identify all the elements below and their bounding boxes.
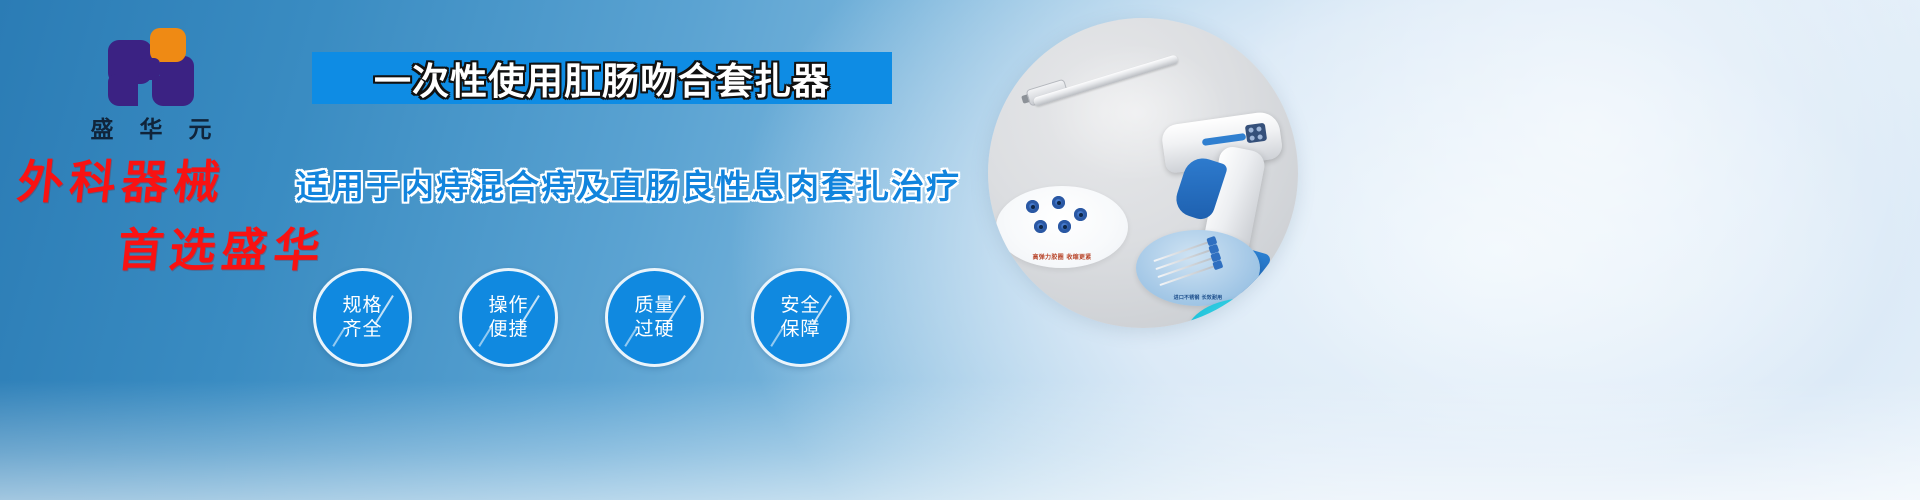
product-title-bar: 一次性使用肛肠吻合套扎器 [312, 52, 892, 104]
teal-device-body [1203, 317, 1293, 328]
feature-label-line1: 规格 [342, 294, 382, 317]
feature-circle-operation[interactable]: 操作 便捷 [459, 268, 558, 367]
product-title: 一次性使用肛肠吻合套扎器 [374, 51, 830, 105]
logo-shape-accent [150, 28, 186, 62]
feature-label-line1: 质量 [634, 294, 674, 317]
feature-circle-list: 规格 齐全 操作 便捷 质量 过硬 安全 保障 [313, 268, 850, 367]
bottom-fade [0, 380, 1920, 500]
rubber-ring-icon [1052, 196, 1065, 209]
promo-banner: 盛 华 元 外科器械 首选盛华 一次性使用肛肠吻合套扎器 适用于内痔混合痔及直肠… [0, 0, 1920, 500]
brand-name: 盛 华 元 [66, 110, 236, 144]
slogan-line-1: 外科器械 [15, 146, 230, 212]
inset-needles: 进口不锈钢 长效耐用 [1136, 230, 1260, 306]
inset-rubber-rings: 高弹力胶圈 收缩更紧 [996, 186, 1128, 268]
brand-logo[interactable]: 盛 华 元 [66, 28, 236, 144]
rubber-ring-icon [1074, 208, 1087, 221]
product-image: 高弹力胶圈 收缩更紧 进口不锈钢 长效耐用 [988, 18, 1298, 328]
slogan-line-2: 首选盛华 [115, 214, 330, 280]
logo-shape-4 [108, 74, 138, 106]
rubber-ring-icon [1034, 220, 1047, 233]
feature-circle-specs[interactable]: 规格 齐全 [313, 268, 412, 367]
feature-circle-safety[interactable]: 安全 保障 [751, 268, 850, 367]
feature-label-line1: 操作 [488, 294, 528, 317]
rubber-ring-icon [1058, 220, 1071, 233]
product-subtitle: 适用于内痔混合痔及直肠良性息肉套扎治疗 [296, 160, 961, 208]
device-control-buttons [1245, 123, 1267, 144]
feature-label-line1: 安全 [780, 294, 820, 317]
rubber-ring-icon [1026, 200, 1039, 213]
logo-shape-5 [138, 58, 160, 80]
shenghuayuan-logo-icon [108, 28, 194, 106]
logo-shape-3 [152, 76, 194, 106]
feature-circle-quality[interactable]: 质量 过硬 [605, 268, 704, 367]
inset-rings-caption: 高弹力胶圈 收缩更紧 [1002, 252, 1122, 261]
